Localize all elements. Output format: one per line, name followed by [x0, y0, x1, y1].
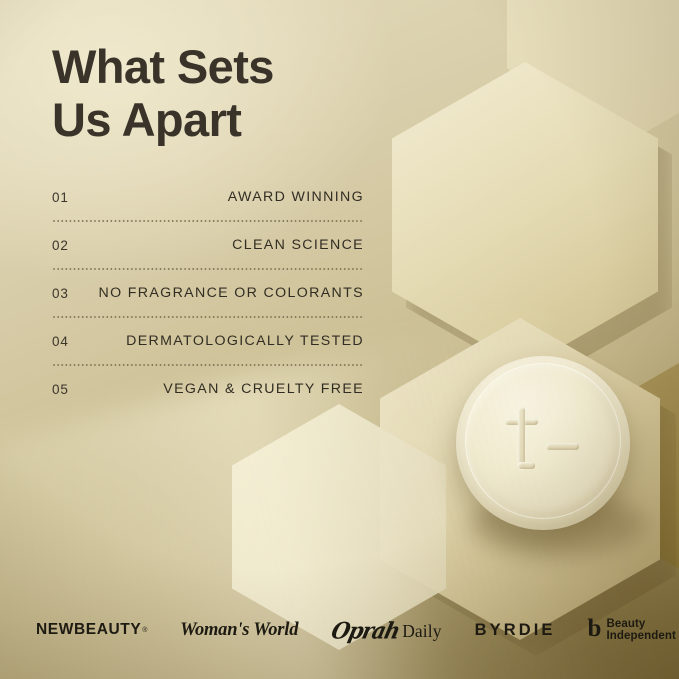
- beauty-independent-b-mark-icon: b: [588, 619, 602, 639]
- dotted-divider: [52, 307, 364, 327]
- dotted-divider: [52, 259, 364, 279]
- logo-oprah-script-text: Oprah: [330, 619, 402, 642]
- logo-newbeauty: NEWBEAUTY®: [36, 622, 148, 638]
- logo-womans-world-text: Woman's World: [180, 621, 298, 640]
- feature-number: 04: [52, 334, 69, 349]
- logo-newbeauty-text: NEWBEAUTY: [36, 622, 141, 638]
- logo-beauty-independent-text: Beauty Independent: [606, 618, 675, 642]
- feature-number: 02: [52, 238, 69, 253]
- dotted-divider: [52, 355, 364, 375]
- logo-oprah-daily: Oprah Daily: [332, 620, 441, 641]
- registered-trademark-icon: ®: [142, 627, 148, 634]
- feature-number: 01: [52, 190, 69, 205]
- page-title: What Sets Us Apart: [52, 41, 382, 146]
- logo-beauty-independent-line1: Beauty: [606, 618, 675, 630]
- logo-beauty-independent-line2: Independent: [606, 630, 675, 642]
- promo-graphic: What Sets Us Apart 01 AWARD WINNING 02 C…: [0, 0, 679, 679]
- content-layer: What Sets Us Apart 01 AWARD WINNING 02 C…: [0, 0, 679, 679]
- feature-number: 03: [52, 286, 69, 301]
- logo-byrdie: BYRDIE: [475, 622, 556, 639]
- feature-label: NO FRAGRANCE OR COLORANTS: [98, 285, 364, 301]
- feature-label: DERMATOLOGICALLY TESTED: [126, 333, 364, 349]
- feature-label: CLEAN SCIENCE: [232, 237, 364, 253]
- feature-label: AWARD WINNING: [228, 189, 364, 205]
- list-item: 03 NO FRAGRANCE OR COLORANTS: [52, 279, 364, 307]
- feature-label: VEGAN & CRUELTY FREE: [163, 381, 364, 397]
- list-item: 04 DERMATOLOGICALLY TESTED: [52, 327, 364, 355]
- list-item: 01 AWARD WINNING: [52, 183, 364, 211]
- logo-byrdie-text: BYRDIE: [475, 622, 556, 639]
- feature-list: 01 AWARD WINNING 02 CLEAN SCIENCE 03 NO …: [52, 183, 364, 403]
- logo-daily-text: Daily: [402, 623, 441, 641]
- dotted-divider: [52, 211, 364, 231]
- logo-womans-world: Woman's World: [180, 621, 298, 640]
- feature-number: 05: [52, 382, 69, 397]
- list-item: 05 VEGAN & CRUELTY FREE: [52, 375, 364, 403]
- logo-beauty-independent: b Beauty Independent: [588, 618, 676, 642]
- list-item: 02 CLEAN SCIENCE: [52, 231, 364, 259]
- press-logo-strip: NEWBEAUTY® Woman's World Oprah Daily BYR…: [0, 604, 679, 656]
